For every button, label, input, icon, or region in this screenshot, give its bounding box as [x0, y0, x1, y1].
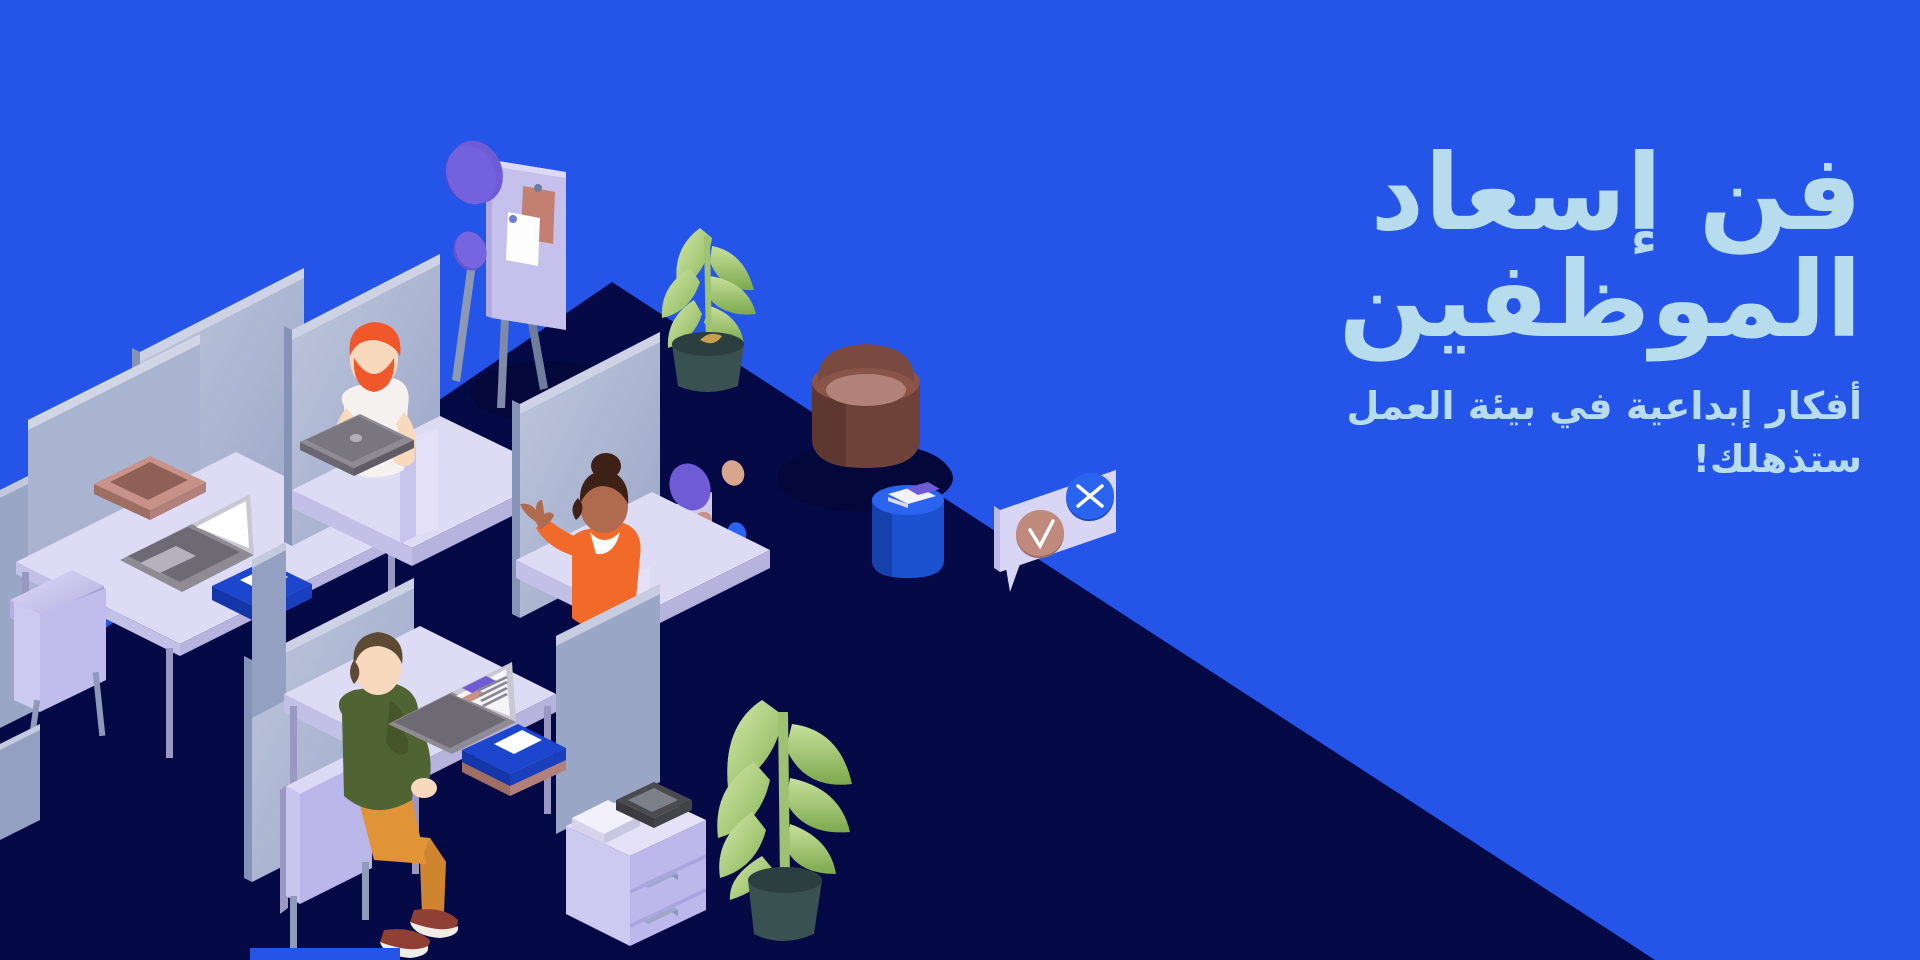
page-title: فن إسعاد الموظفين	[1102, 140, 1862, 354]
subtitle-line-1: أفكار إبداعية في بيئة العمل	[1102, 380, 1862, 432]
desk-strip-left	[0, 724, 40, 840]
banner-text-block: فن إسعاد الموظفين أفكار إبداعية في بيئة …	[1102, 140, 1862, 485]
side-table	[872, 482, 944, 578]
potted-plant-bottom	[717, 700, 852, 941]
feedback-sign	[994, 467, 1120, 592]
bottom-edge	[250, 948, 400, 960]
hero-banner: فن إسعاد الموظفين أفكار إبداعية في بيئة …	[0, 0, 1920, 960]
headline-line-2: الموظفين	[1102, 247, 1862, 354]
armchair	[782, 344, 950, 506]
page-subtitle: أفكار إبداعية في بيئة العمل ستذهلك!	[1102, 380, 1862, 485]
potted-plant-top	[662, 228, 756, 392]
headline-line-1: فن إسعاد	[1102, 140, 1862, 247]
subtitle-line-2: ستذهلك!	[1102, 433, 1862, 485]
office-illustration	[0, 0, 1200, 960]
